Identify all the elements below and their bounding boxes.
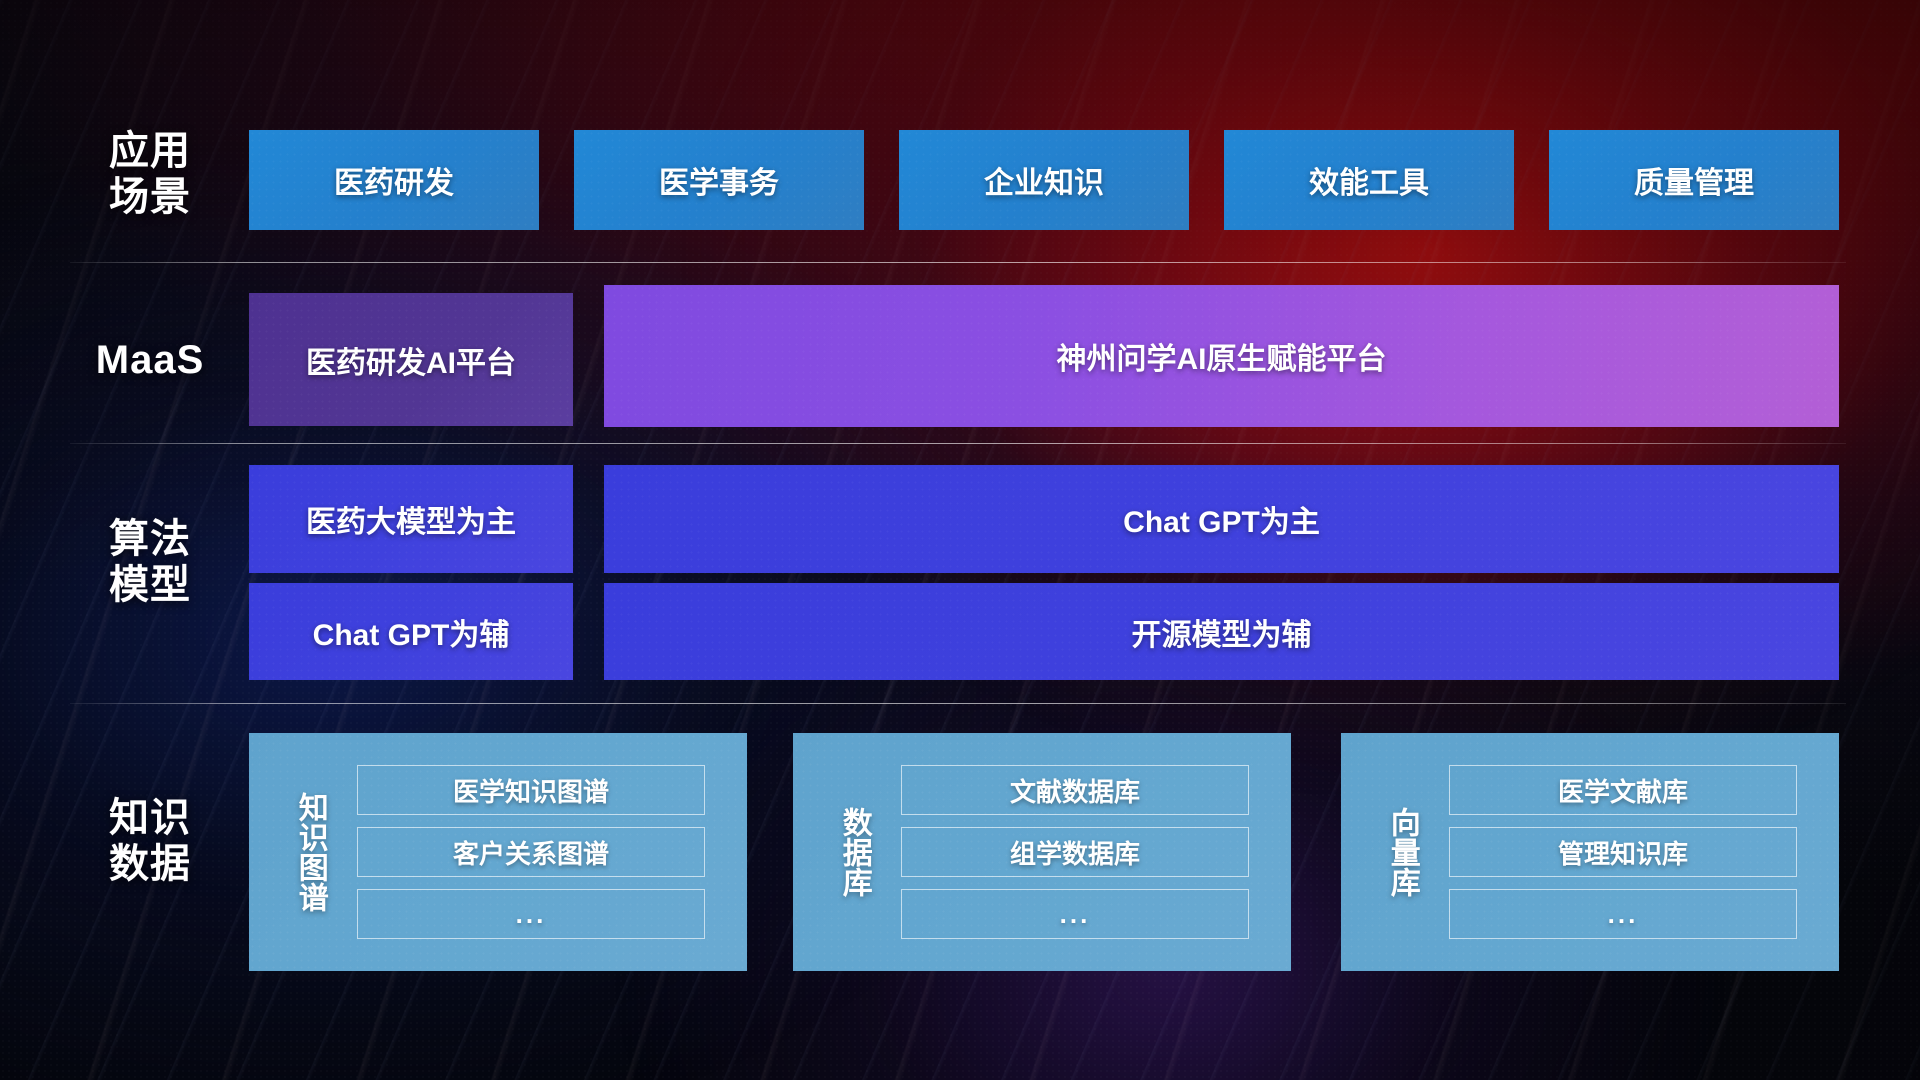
application-cell-efficiency-tools[interactable]: 效能工具 — [1224, 130, 1514, 230]
row-label-application: 应用 场景 — [60, 128, 240, 221]
knowledge-item-omics-database[interactable]: 组学数据库 — [901, 827, 1249, 877]
knowledge-item-literature-database[interactable]: 文献数据库 — [901, 765, 1249, 815]
row-label-algorithm-line2: 模型 — [60, 562, 240, 608]
row-label-knowledge-line2: 数据 — [60, 841, 240, 887]
divider-maas-algorithm — [70, 443, 1846, 444]
knowledge-panel-knowledge-graph-label: 知识图谱 — [267, 757, 353, 947]
application-cell-enterprise-knowledge[interactable]: 企业知识 — [899, 130, 1189, 230]
algorithm-cell-chatgpt-secondary[interactable]: Chat GPT为辅 — [249, 583, 573, 680]
algorithm-cell-chatgpt-primary[interactable]: Chat GPT为主 — [604, 465, 1839, 573]
application-cell-medicine-rnd[interactable]: 医药研发 — [249, 130, 539, 230]
knowledge-panel-database-items: 文献数据库 组学数据库 ... — [901, 765, 1249, 939]
row-label-application-line2: 场景 — [60, 174, 240, 220]
divider-application-maas — [70, 262, 1846, 263]
knowledge-panel-vector-store-label: 向量库 — [1359, 757, 1445, 947]
algorithm-cell-opensource-model-secondary[interactable]: 开源模型为辅 — [604, 583, 1839, 680]
knowledge-item-management-knowledge-store[interactable]: 管理知识库 — [1449, 827, 1797, 877]
row-label-knowledge: 知识 数据 — [60, 795, 240, 888]
maas-cell-pharma-ai-platform[interactable]: 医药研发AI平台 — [249, 293, 573, 426]
row-label-algorithm-line1: 算法 — [60, 516, 240, 562]
row-label-maas: MaaS — [60, 337, 240, 383]
application-cell-medical-affairs[interactable]: 医学事务 — [574, 130, 864, 230]
architecture-diagram: 应用 场景 医药研发 医学事务 企业知识 效能工具 质量管理 MaaS 医药研发… — [0, 0, 1920, 1080]
knowledge-item-medical-knowledge-graph[interactable]: 医学知识图谱 — [357, 765, 705, 815]
divider-algorithm-knowledge — [70, 703, 1846, 704]
row-label-knowledge-line1: 知识 — [60, 795, 240, 841]
knowledge-panel-database: 数据库 文献数据库 组学数据库 ... — [793, 733, 1291, 971]
knowledge-item-more-db[interactable]: ... — [901, 889, 1249, 939]
knowledge-item-customer-relation-graph[interactable]: 客户关系图谱 — [357, 827, 705, 877]
knowledge-item-more-vector[interactable]: ... — [1449, 889, 1797, 939]
knowledge-panel-vector-store: 向量库 医学文献库 管理知识库 ... — [1341, 733, 1839, 971]
knowledge-panel-vector-store-items: 医学文献库 管理知识库 ... — [1449, 765, 1797, 939]
row-label-application-line1: 应用 — [60, 128, 240, 174]
knowledge-item-more-kg[interactable]: ... — [357, 889, 705, 939]
knowledge-panel-knowledge-graph: 知识图谱 医学知识图谱 客户关系图谱 ... — [249, 733, 747, 971]
knowledge-panel-knowledge-graph-items: 医学知识图谱 客户关系图谱 ... — [357, 765, 705, 939]
row-label-algorithm: 算法 模型 — [60, 516, 240, 609]
algorithm-cell-pharma-large-model-primary[interactable]: 医药大模型为主 — [249, 465, 573, 573]
application-cell-quality-management[interactable]: 质量管理 — [1549, 130, 1839, 230]
knowledge-panel-database-label: 数据库 — [811, 757, 897, 947]
maas-cell-shenzhou-wenxue-platform[interactable]: 神州问学AI原生赋能平台 — [604, 285, 1839, 427]
knowledge-item-medical-literature-store[interactable]: 医学文献库 — [1449, 765, 1797, 815]
